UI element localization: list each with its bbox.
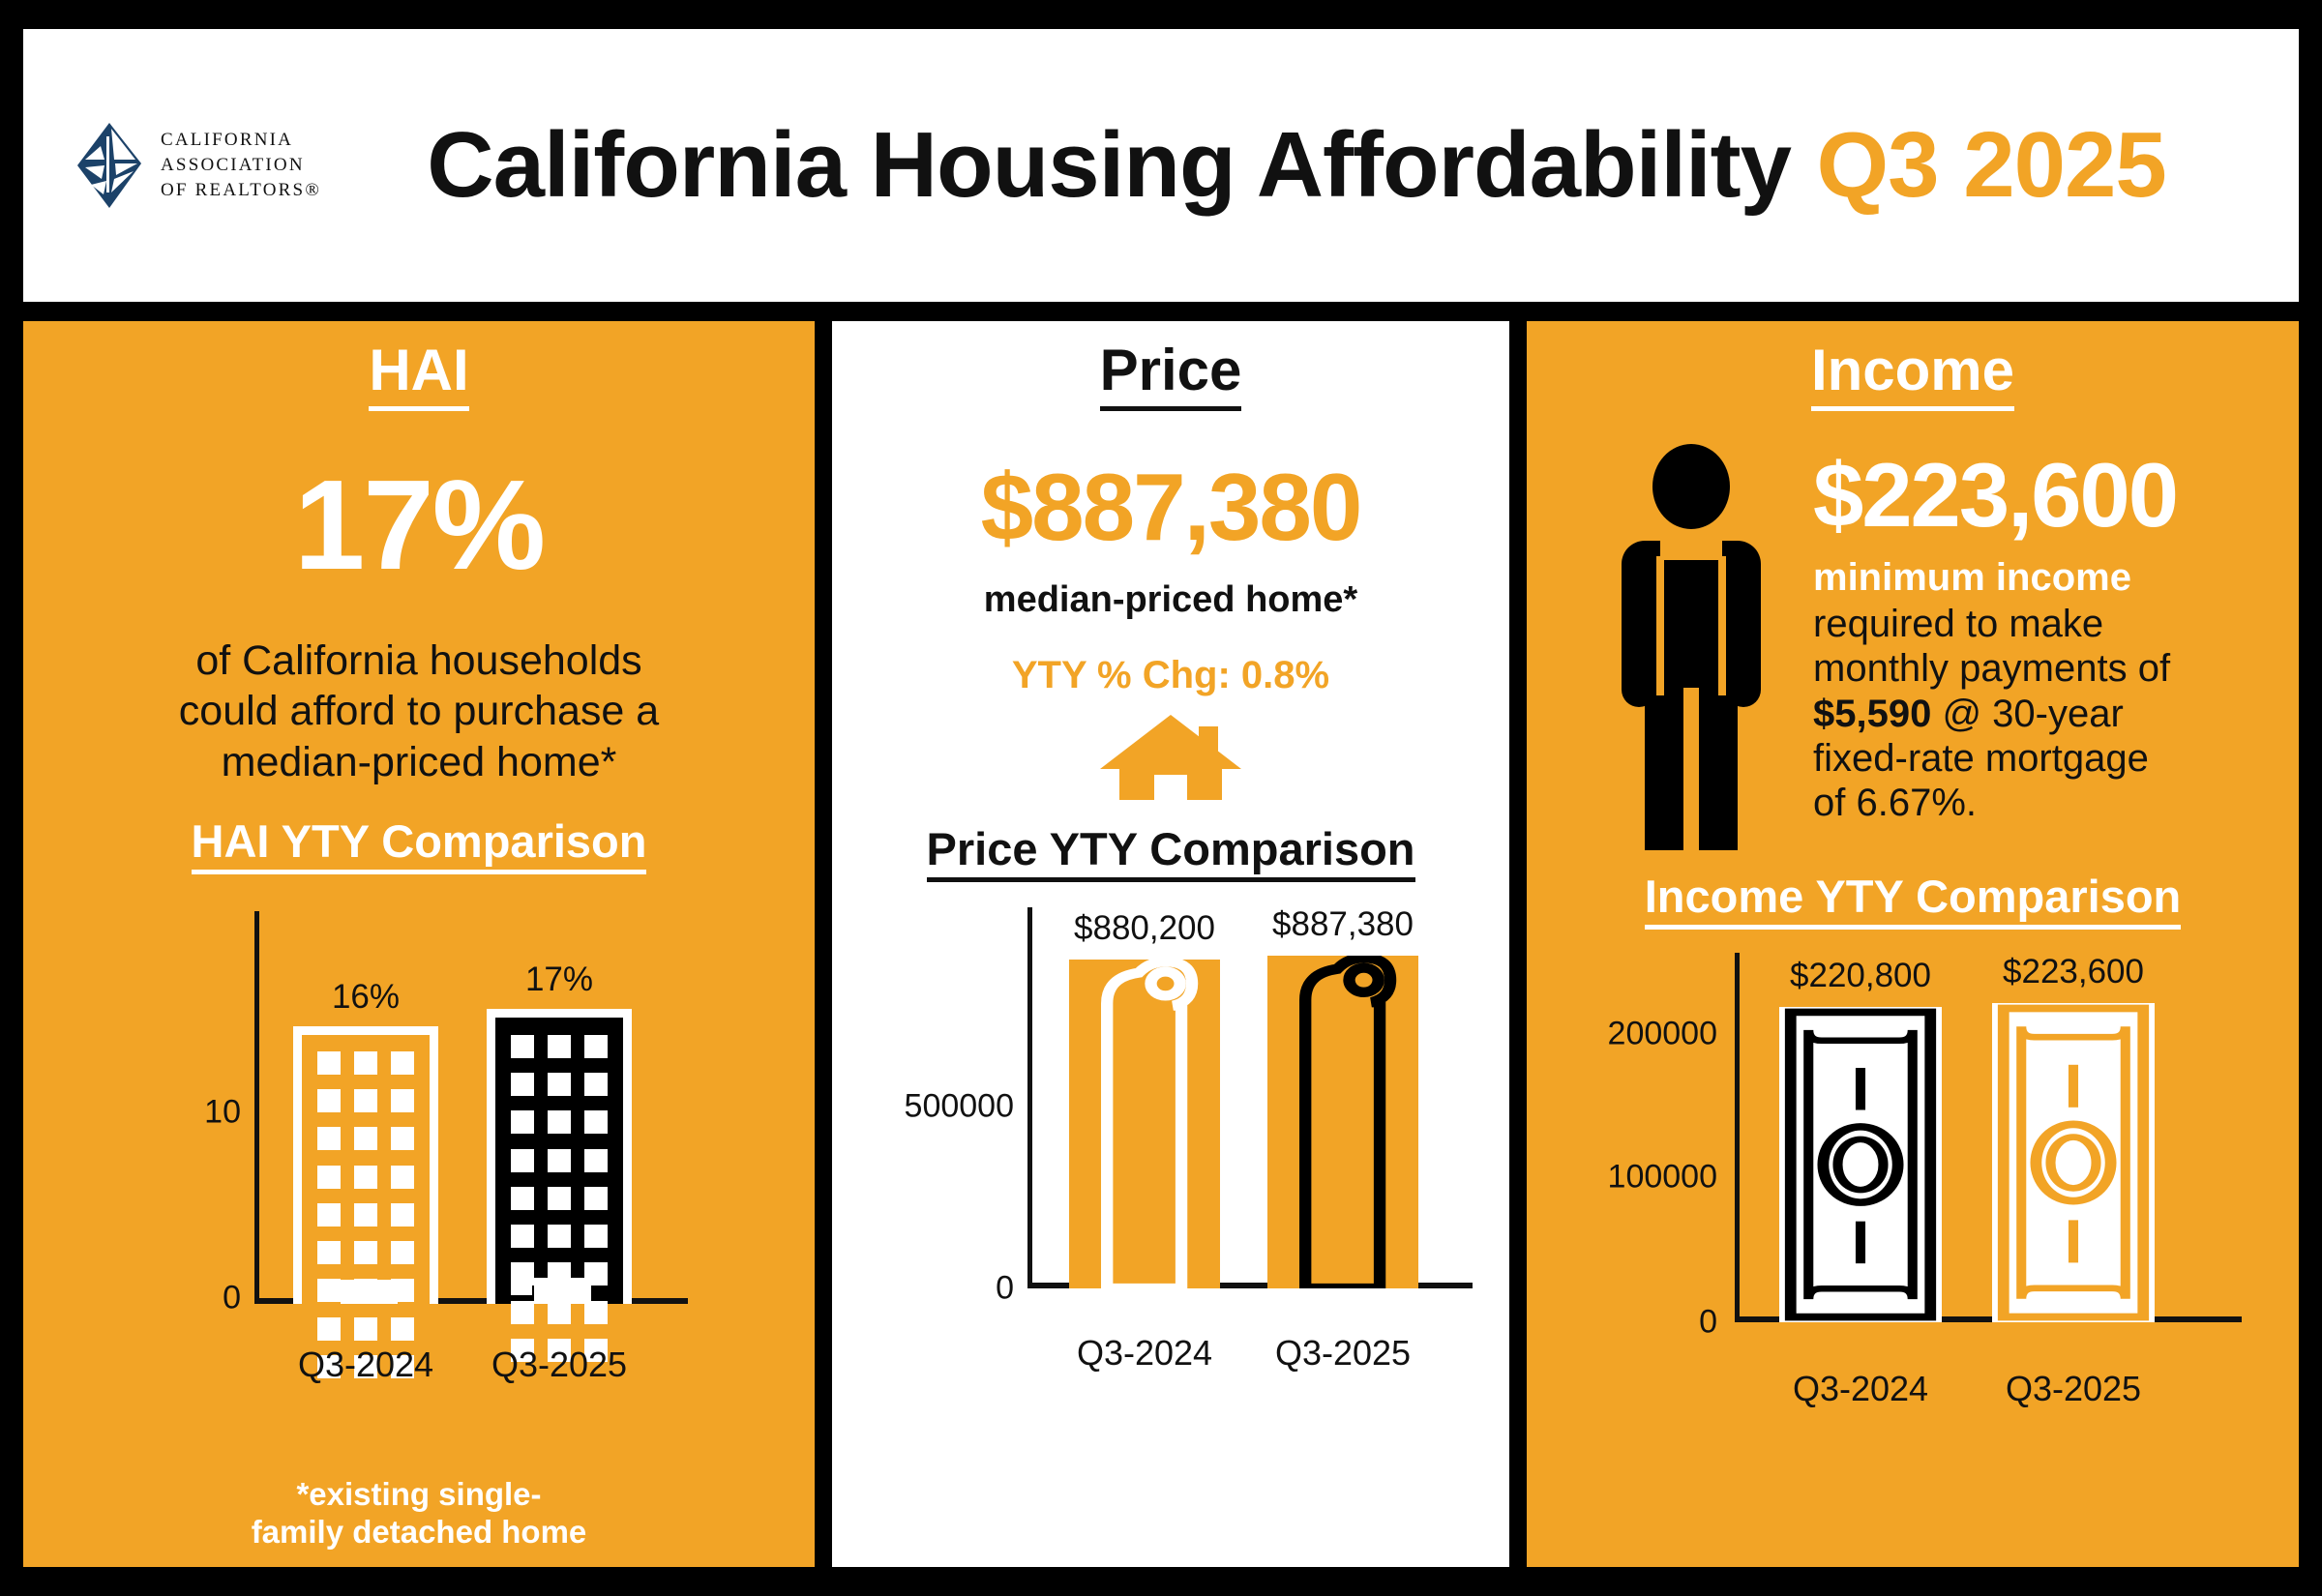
hai-chart-title-row: HAI YTY Comparison	[37, 816, 801, 874]
income-summary-row: $223,600 minimum income required to make…	[1540, 444, 2285, 850]
price-chart-title-row: Price YTY Comparison	[846, 824, 1496, 882]
hai-bar-2025: 17%	[487, 1009, 632, 1304]
income-min-label: minimum income	[1813, 556, 2285, 600]
income-body-line-2: monthly payments of	[1813, 646, 2285, 691]
hai-panel-title: HAI	[369, 339, 468, 411]
house-icon-wrap	[846, 713, 1496, 807]
hai-xlabel-2024: Q3-2024	[298, 1345, 433, 1385]
building-icon	[293, 1026, 438, 1304]
income-body-line-1: required to make	[1813, 602, 2285, 646]
income-ytick-200000: 200000	[1545, 1015, 1717, 1052]
logo-line-2: ASSOCIATION	[161, 153, 321, 178]
hai-footnote-line-2: family detached home	[23, 1514, 815, 1552]
car-logo: CALIFORNIA ASSOCIATION OF REALTORS®	[72, 121, 333, 210]
page-title: California Housing Affordability Q3 2025	[333, 112, 2260, 219]
panel-hai: HAI 17% of California households could a…	[23, 321, 815, 1567]
price-title-row: Price	[846, 339, 1496, 411]
house-icon	[1098, 713, 1243, 802]
price-xlabel-2025: Q3-2025	[1275, 1333, 1411, 1374]
logo-line-3: OF REALTORS®	[161, 178, 321, 203]
price-bar-2025: $887,380 Q3-2025	[1267, 956, 1418, 1288]
income-body-line-5: of 6.67%.	[1813, 781, 2285, 825]
hai-footnote: *existing single- family detached home	[23, 1476, 815, 1552]
price-y-axis	[1027, 907, 1032, 1288]
price-bar-label-2025: $887,380	[1272, 905, 1414, 944]
price-bar-label-2024: $880,200	[1074, 909, 1215, 948]
price-ytick-0: 0	[851, 1269, 1014, 1307]
price-xlabel-2024: Q3-2024	[1077, 1333, 1212, 1374]
income-chart-title-row: Income YTY Comparison	[1540, 872, 2285, 930]
income-y-axis	[1735, 953, 1740, 1322]
hai-footnote-line-1: *existing single-	[23, 1476, 815, 1514]
price-headline-value: $887,380	[846, 459, 1496, 554]
person-icon	[1594, 444, 1788, 850]
hai-title-row: HAI	[37, 339, 801, 411]
hai-bar-label-2025: 17%	[525, 961, 593, 999]
income-body-line-4: fixed-rate mortgage	[1813, 736, 2285, 781]
income-ytick-0: 0	[1545, 1303, 1717, 1341]
car-diamond-logo-icon	[72, 121, 147, 210]
panel-price: Price $887,380 median-priced home* YTY %…	[832, 321, 1509, 1567]
price-panel-title: Price	[1100, 339, 1242, 411]
income-bar-label-2024: $220,800	[1790, 957, 1931, 995]
income-yty-chart: 200000 100000 0 $220,800 Q3-2024 $223,	[1545, 953, 2280, 1359]
price-bar-2024: $880,200 Q3-2024	[1069, 960, 1220, 1288]
price-subtitle: median-priced home*	[846, 579, 1496, 621]
income-monthly-payment: $5,590	[1813, 693, 1931, 735]
income-body-line-3: $5,590 @ 30-year	[1813, 692, 2285, 736]
hai-yty-chart: 10 0 16%	[148, 911, 690, 1337]
hai-desc-line-2: could afford to purchase a	[37, 686, 801, 736]
hai-chart-title: HAI YTY Comparison	[192, 816, 647, 874]
price-tag-icon	[1069, 960, 1220, 1288]
income-bar-2024: $220,800 Q3-2024	[1779, 1007, 1942, 1322]
income-xlabel-2024: Q3-2024	[1793, 1369, 1928, 1409]
income-bar-2025: $223,600 Q3-2025	[1992, 1003, 2155, 1322]
logo-wordmark: CALIFORNIA ASSOCIATION OF REALTORS®	[161, 128, 321, 204]
income-term: @ 30-year	[1931, 693, 2123, 735]
logo-line-1: CALIFORNIA	[161, 128, 321, 153]
hai-description: of California households could afford to…	[37, 635, 801, 787]
building-icon	[487, 1009, 632, 1304]
price-yty-chart: 500000 0 $880,200 Q3-2024 $887,380 Q3	[851, 907, 1490, 1323]
price-ytick-500000: 500000	[851, 1087, 1014, 1125]
hai-bar-2024: 16%	[293, 1026, 438, 1304]
hai-ytick-10: 10	[148, 1094, 241, 1132]
hai-y-axis	[254, 911, 259, 1298]
panel-income: Income $223,600 minimum income required …	[1527, 321, 2299, 1567]
hai-ytick-0: 0	[148, 1280, 241, 1317]
header-bar: CALIFORNIA ASSOCIATION OF REALTORS® Cali…	[23, 29, 2299, 302]
price-chart-title: Price YTY Comparison	[927, 824, 1415, 882]
income-title-row: Income	[1540, 339, 2285, 411]
banknote-icon	[1779, 1007, 1942, 1322]
hai-xlabel-2025: Q3-2025	[491, 1345, 627, 1385]
income-bar-label-2025: $223,600	[2003, 953, 2144, 991]
banknote-icon	[1992, 1003, 2155, 1322]
price-tag-icon	[1267, 956, 1418, 1288]
hai-bar-label-2024: 16%	[332, 978, 400, 1017]
income-chart-title: Income YTY Comparison	[1645, 872, 2182, 930]
income-headline-value: $223,600	[1813, 450, 2285, 541]
hai-desc-line-1: of California households	[37, 635, 801, 686]
title-main: California Housing Affordability	[427, 113, 1791, 217]
income-xlabel-2025: Q3-2025	[2006, 1369, 2141, 1409]
price-yty-change: YTY % Chg: 0.8%	[846, 654, 1496, 697]
income-ytick-100000: 100000	[1545, 1158, 1717, 1196]
title-quarter: Q3 2025	[1816, 113, 2165, 217]
income-panel-title: Income	[1811, 339, 2014, 411]
hai-desc-line-3: median-priced home*	[37, 737, 801, 787]
income-body-text: required to make monthly payments of $5,…	[1813, 602, 2285, 826]
hai-headline-value: 17%	[37, 461, 801, 589]
income-text-block: $223,600 minimum income required to make…	[1813, 444, 2285, 826]
